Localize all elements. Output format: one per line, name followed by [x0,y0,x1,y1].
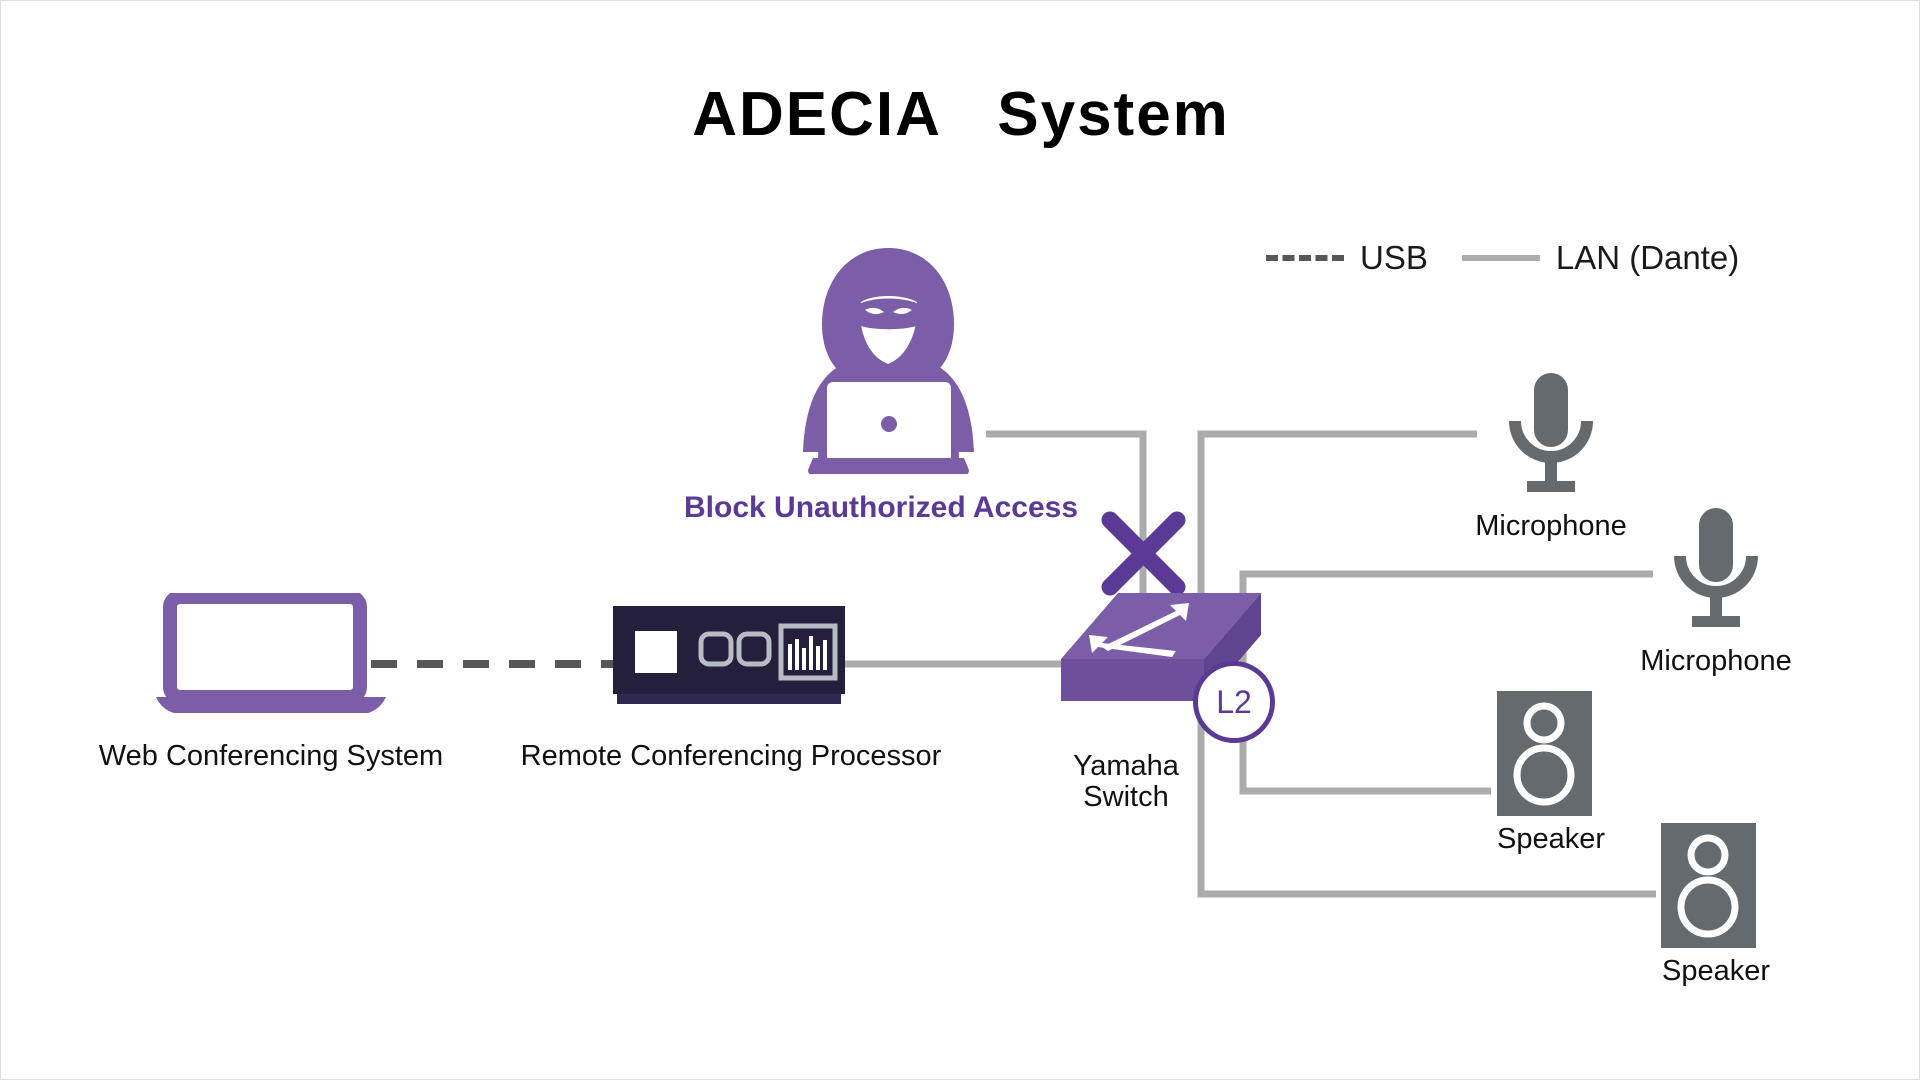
node-label-yamaha-switch: Yamaha Switch [1001,751,1251,814]
node-unauthorized-user[interactable] [791,244,986,479]
rack-processor-icon [613,606,845,711]
speaker-icon [1497,691,1592,816]
node-label-block-unauthorized-access: Block Unauthorized Access [601,491,1161,525]
node-speaker-1[interactable] [1497,691,1592,821]
node-label-speaker-1: Speaker [1401,824,1701,855]
node-microphone-1[interactable] [1501,371,1601,506]
node-label-remote-conferencing-processor: Remote Conferencing Processor [441,741,1021,772]
microphone-icon [1501,371,1601,501]
laptop-icon [156,593,386,713]
node-web-conferencing-system[interactable] [156,593,386,718]
node-speaker-2[interactable] [1661,823,1756,953]
speaker-icon [1661,823,1756,948]
node-label-microphone-1: Microphone [1401,511,1701,542]
wire-lan-switch-speaker-1 [1243,691,1491,791]
hacker-laptop-icon [791,244,986,474]
node-label-web-conferencing-system: Web Conferencing System [36,741,506,772]
node-microphone-2[interactable] [1666,506,1766,641]
diagram-canvas: ADECIA System USB LAN (Dante) [0,0,1920,1080]
node-label-microphone-2: Microphone [1566,646,1866,677]
node-remote-conferencing-processor[interactable] [613,606,845,716]
node-label-speaker-2: Speaker [1566,956,1866,987]
microphone-icon [1666,506,1766,636]
node-yamaha-switch[interactable]: L2 [1056,591,1271,741]
switch-l2-badge: L2 [1193,661,1275,743]
switch-l2-badge-label: L2 [1216,684,1252,721]
